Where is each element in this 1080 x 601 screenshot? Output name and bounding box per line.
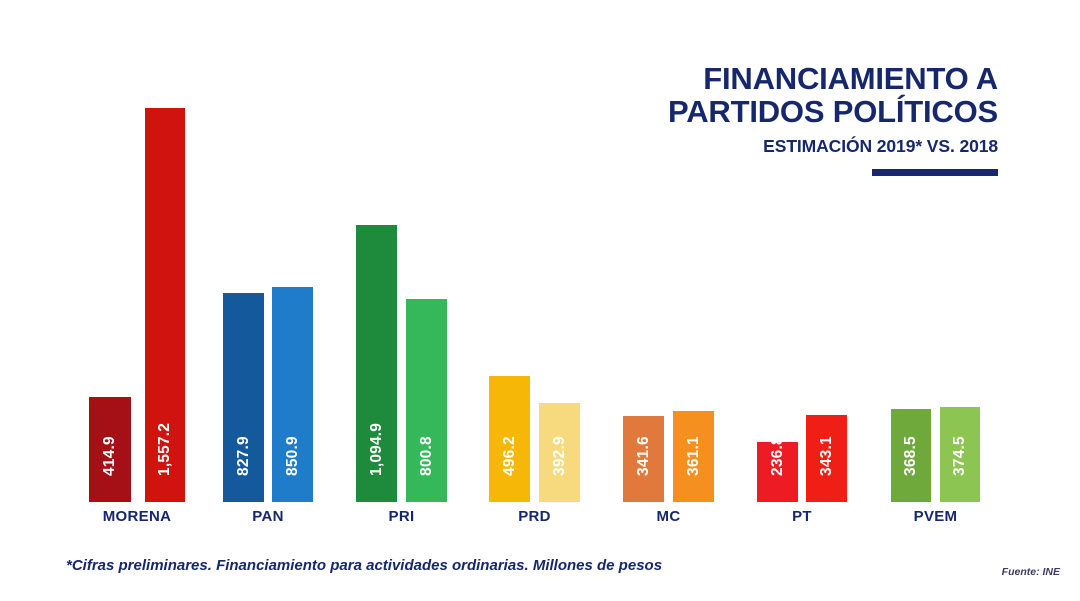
bar-pvem-series2: 374.5	[940, 407, 980, 502]
bar-value-label: 361.1	[685, 436, 703, 476]
category-label-mc: MC	[623, 508, 714, 525]
category-label-morena: MORENA	[89, 508, 185, 525]
bar-value-label: 496.2	[501, 436, 519, 476]
bar-pri-series2: 800.8	[406, 299, 447, 502]
source-note: Fuente: INE	[1002, 566, 1060, 578]
bar-pt-series2: 343.1	[806, 415, 847, 502]
bar-pvem-series1: 368.5	[891, 409, 931, 502]
plot-area: 414.91,557.2827.9850.91,094.9800.8496.23…	[0, 0, 1080, 502]
bar-pri-series1: 1,094.9	[356, 225, 397, 502]
bar-value-label: 392.9	[551, 436, 569, 476]
bar-morena-series1: 414.9	[89, 397, 131, 502]
category-label-pan: PAN	[223, 508, 313, 525]
bar-prd-series2: 392.9	[539, 403, 580, 502]
bar-mc-series2: 361.1	[673, 411, 714, 502]
bar-value-label: 800.8	[418, 436, 436, 476]
bar-value-label: 850.9	[284, 436, 302, 476]
bar-value-label: 343.1	[818, 436, 836, 476]
bar-value-label: 827.9	[235, 436, 253, 476]
category-axis: MORENAPANPRIPRDMCPTPVEM	[0, 508, 1080, 536]
bar-value-label: 414.9	[101, 436, 119, 476]
bar-value-label: 236.8	[769, 442, 787, 476]
bar-value-label: 374.5	[951, 436, 969, 476]
footnote-text: *Cifras preliminares. Financiamiento par…	[66, 557, 662, 574]
bar-pan-series1: 827.9	[223, 293, 264, 502]
bar-value-label: 1,557.2	[156, 423, 174, 476]
category-label-pt: PT	[757, 508, 847, 525]
bar-pan-series2: 850.9	[272, 287, 313, 502]
bar-morena-series2: 1,557.2	[145, 108, 185, 502]
bar-value-label: 341.6	[635, 436, 653, 476]
category-label-pvem: PVEM	[891, 508, 980, 525]
bar-value-label: 1,094.9	[368, 423, 386, 476]
bar-mc-series1: 341.6	[623, 416, 664, 502]
bar-prd-series1: 496.2	[489, 376, 530, 502]
bar-value-label: 368.5	[902, 436, 920, 476]
chart-container: FINANCIAMIENTO A PARTIDOS POLÍTICOS ESTI…	[0, 0, 1080, 601]
category-label-pri: PRI	[356, 508, 447, 525]
bar-pt-series1: 236.8	[757, 442, 798, 502]
category-label-prd: PRD	[489, 508, 580, 525]
